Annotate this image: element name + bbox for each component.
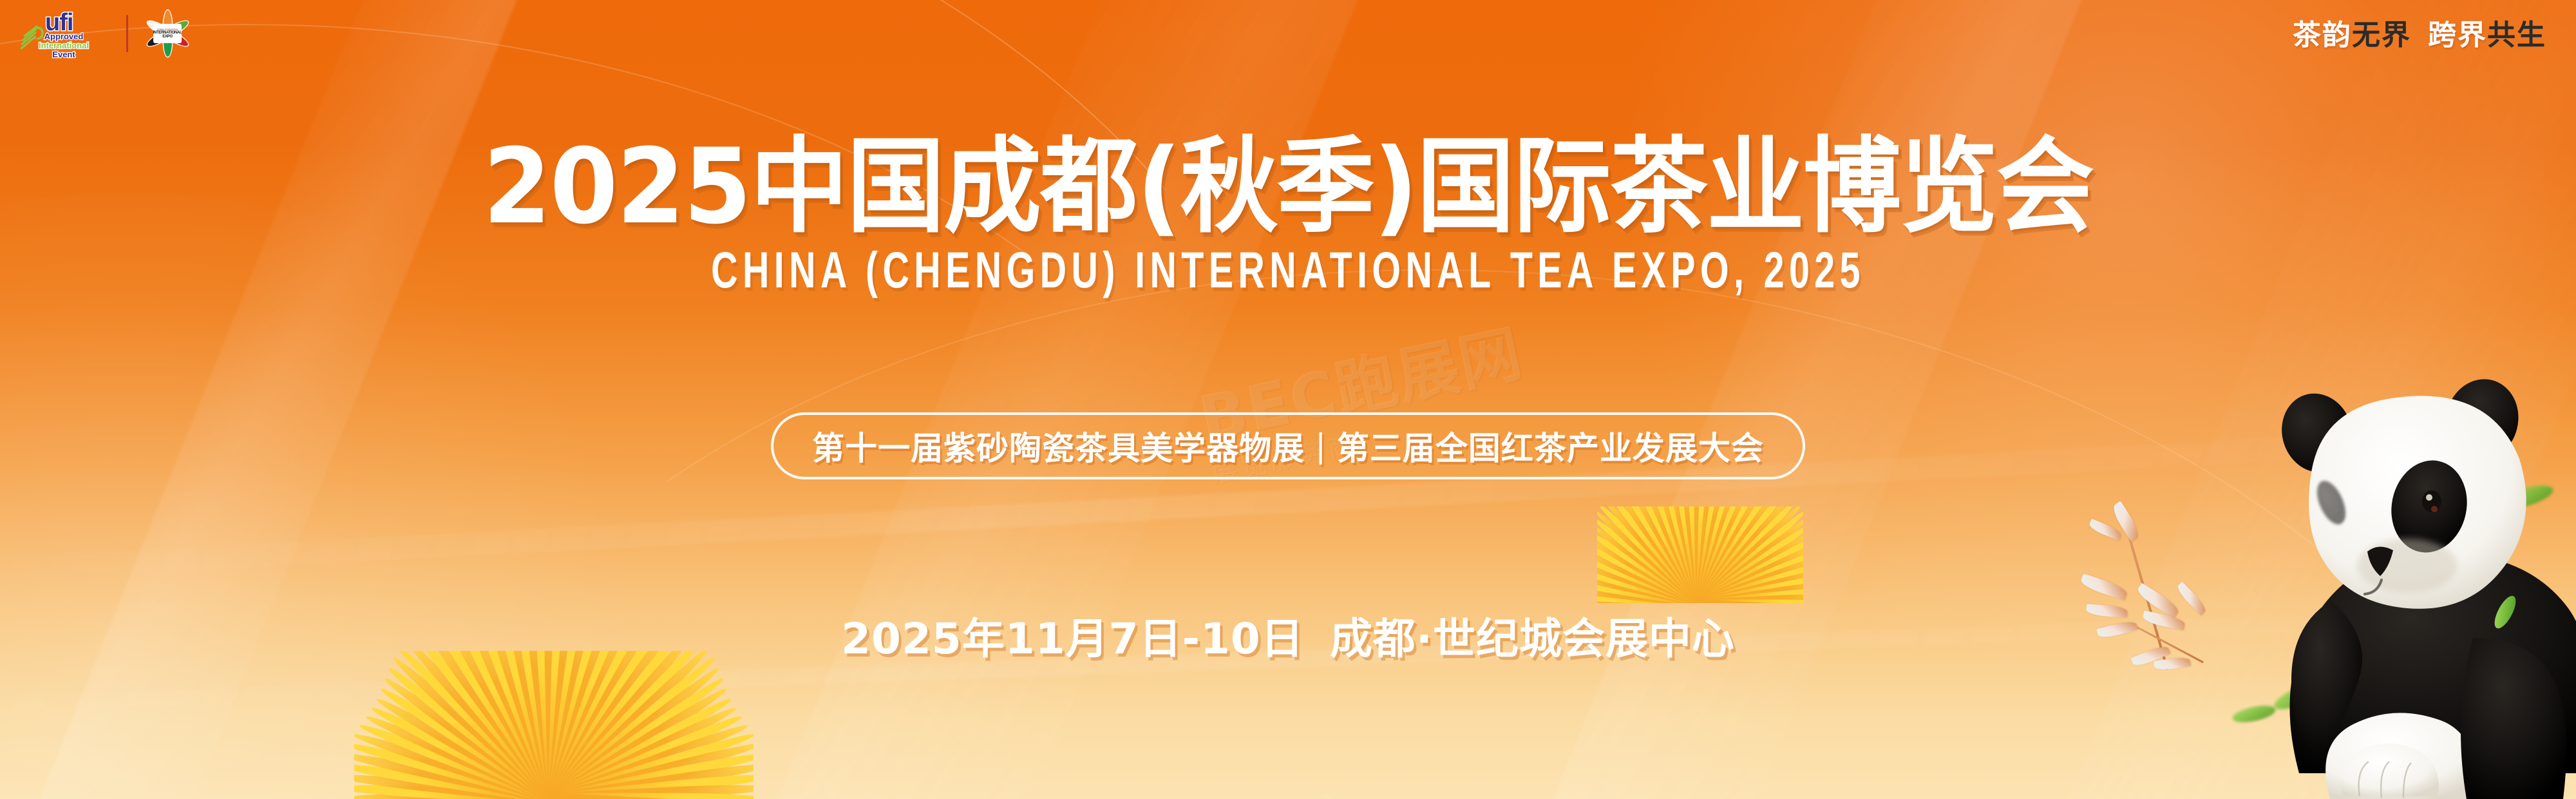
ufi-logo[interactable]: ufi Approved International Event xyxy=(15,6,112,61)
tea-core-expo-text: EXPO xyxy=(162,35,172,39)
panda-eye-highlight xyxy=(2426,494,2432,501)
ufi-line-event: Event xyxy=(15,50,112,59)
tea-expo-logo[interactable]: CHINA (CHENGDU) INTERNATIONAL EXPO xyxy=(142,8,193,59)
tea-logo-core: CHINA (CHENGDU) INTERNATIONAL EXPO xyxy=(153,24,182,43)
slogan-part-4: 共生 xyxy=(2487,19,2546,52)
header-logo-strip: ufi Approved International Event CHINA (… xyxy=(15,6,193,61)
ginkgo-leaf-bottom-left xyxy=(354,651,753,799)
subtitle-pill: 第十一届紫砂陶瓷茶具美学器物展 | 第三届全国红茶产业发展大会 xyxy=(771,412,1805,479)
panda-illustration xyxy=(2138,361,2576,799)
background-light-band-3 xyxy=(1459,0,2160,799)
page-title-english: CHINA (CHENGDU) INTERNATIONAL TEA EXPO, … xyxy=(232,245,2344,295)
ufi-line-approved: Approved xyxy=(15,32,112,41)
slogan-part-1: 茶韵 xyxy=(2293,19,2352,52)
slogan-part-2: 无界 xyxy=(2352,19,2411,52)
background-light-band-2 xyxy=(699,0,1425,799)
pill-left-text: 第十一届紫砂陶瓷茶具美学器物展 xyxy=(812,423,1305,469)
event-date: 2025年11月7日-10日 xyxy=(841,614,1304,664)
bamboo-leaf-3 xyxy=(2079,573,2129,601)
header-slogan: 茶韵无界跨界共生 xyxy=(2293,12,2546,53)
bamboo-leaf-2 xyxy=(2088,519,2123,541)
pill-right-text: 第三届全国红茶产业发展大会 xyxy=(1337,423,1764,469)
ginkgo-leaf-center xyxy=(1597,506,1803,603)
ufi-line-international: International xyxy=(15,41,112,50)
event-venue: 成都·世纪城会展中心 xyxy=(1330,614,1735,664)
ufi-subtitle: Approved International Event xyxy=(15,32,112,59)
panda-eye-warm xyxy=(2431,506,2438,512)
tea-expo-banner: ufi Approved International Event CHINA (… xyxy=(0,0,2576,799)
bamboo-leaf-5 xyxy=(2096,619,2137,639)
panda-head xyxy=(2271,371,2526,608)
slogan-part-3: 跨界 xyxy=(2428,19,2487,52)
pill-separator: | xyxy=(1305,427,1337,465)
title-block: 2025中国成都(秋季)国际茶业博览会 CHINA (CHENGDU) INTE… xyxy=(0,138,2576,293)
page-title-chinese: 2025中国成都(秋季)国际茶业博览会 xyxy=(0,135,2576,238)
logo-divider xyxy=(126,15,128,52)
